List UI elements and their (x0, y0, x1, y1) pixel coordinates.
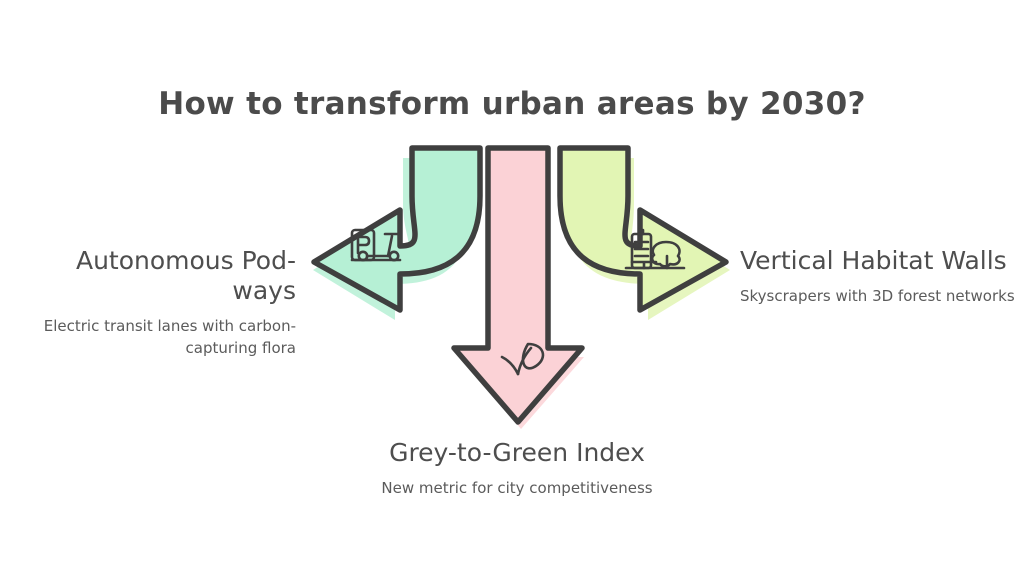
branch-right-subtitle: Skyscrapers with 3D forest networks (740, 286, 1016, 308)
branch-down-subtitle: New metric for city competitiveness (352, 478, 682, 500)
branch-left-heading: Autonomous Pod-ways (14, 246, 296, 306)
branch-right-heading: Vertical Habitat Walls (740, 246, 1016, 276)
branch-down-heading: Grey-to-Green Index (352, 438, 682, 468)
branch-right-text-block: Vertical Habitat Walls Skyscrapers with … (740, 246, 1016, 308)
page-title: How to transform urban areas by 2030? (0, 86, 1024, 122)
branch-left[interactable] (313, 148, 480, 320)
infographic-canvas: How to transform urban areas by 2030? (0, 0, 1024, 580)
branch-right[interactable] (560, 148, 730, 320)
split-arrow-diagram (296, 138, 736, 438)
branch-down-text-block: Grey-to-Green Index New metric for city … (352, 438, 682, 500)
branch-left-text-block: Autonomous Pod-ways Electric transit lan… (14, 246, 296, 360)
branch-left-subtitle: Electric transit lanes with carbon-captu… (14, 316, 296, 360)
